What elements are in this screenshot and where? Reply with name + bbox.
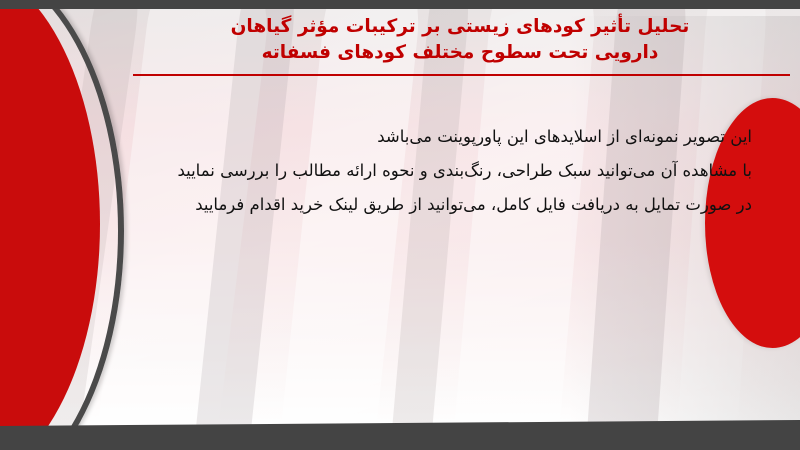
background-band (444, 0, 601, 450)
background-band (269, 0, 426, 450)
body-line-3: در صورت تمایل به دریافت فایل کامل، می‌تو… (110, 188, 752, 222)
slide-title: تحلیل تأثیر کودهای زیستی بر ترکیبات مؤثر… (130, 14, 790, 67)
body-line-1: این تصویر نمونه‌ای از اسلایدهای این پاور… (110, 120, 752, 154)
slide-title-line-2: دارویی تحت سطوح مختلف کودهای فسفاته (130, 40, 790, 66)
background-band (382, 0, 474, 450)
title-divider-rule (133, 74, 790, 76)
background-band (579, 0, 691, 450)
top-dark-bar (0, 0, 800, 9)
slide-body-text: این تصویر نمونه‌ای از اسلایدهای این پاور… (110, 120, 752, 222)
slide-title-line-1: تحلیل تأثیر کودهای زیستی بر ترکیبات مؤثر… (130, 14, 790, 40)
presentation-slide: تحلیل تأثیر کودهای زیستی بر ترکیبات مؤثر… (0, 0, 800, 450)
background-band (184, 0, 301, 450)
body-line-2: با مشاهده آن می‌توانید سبک طراحی، رنگ‌بن… (110, 154, 752, 188)
